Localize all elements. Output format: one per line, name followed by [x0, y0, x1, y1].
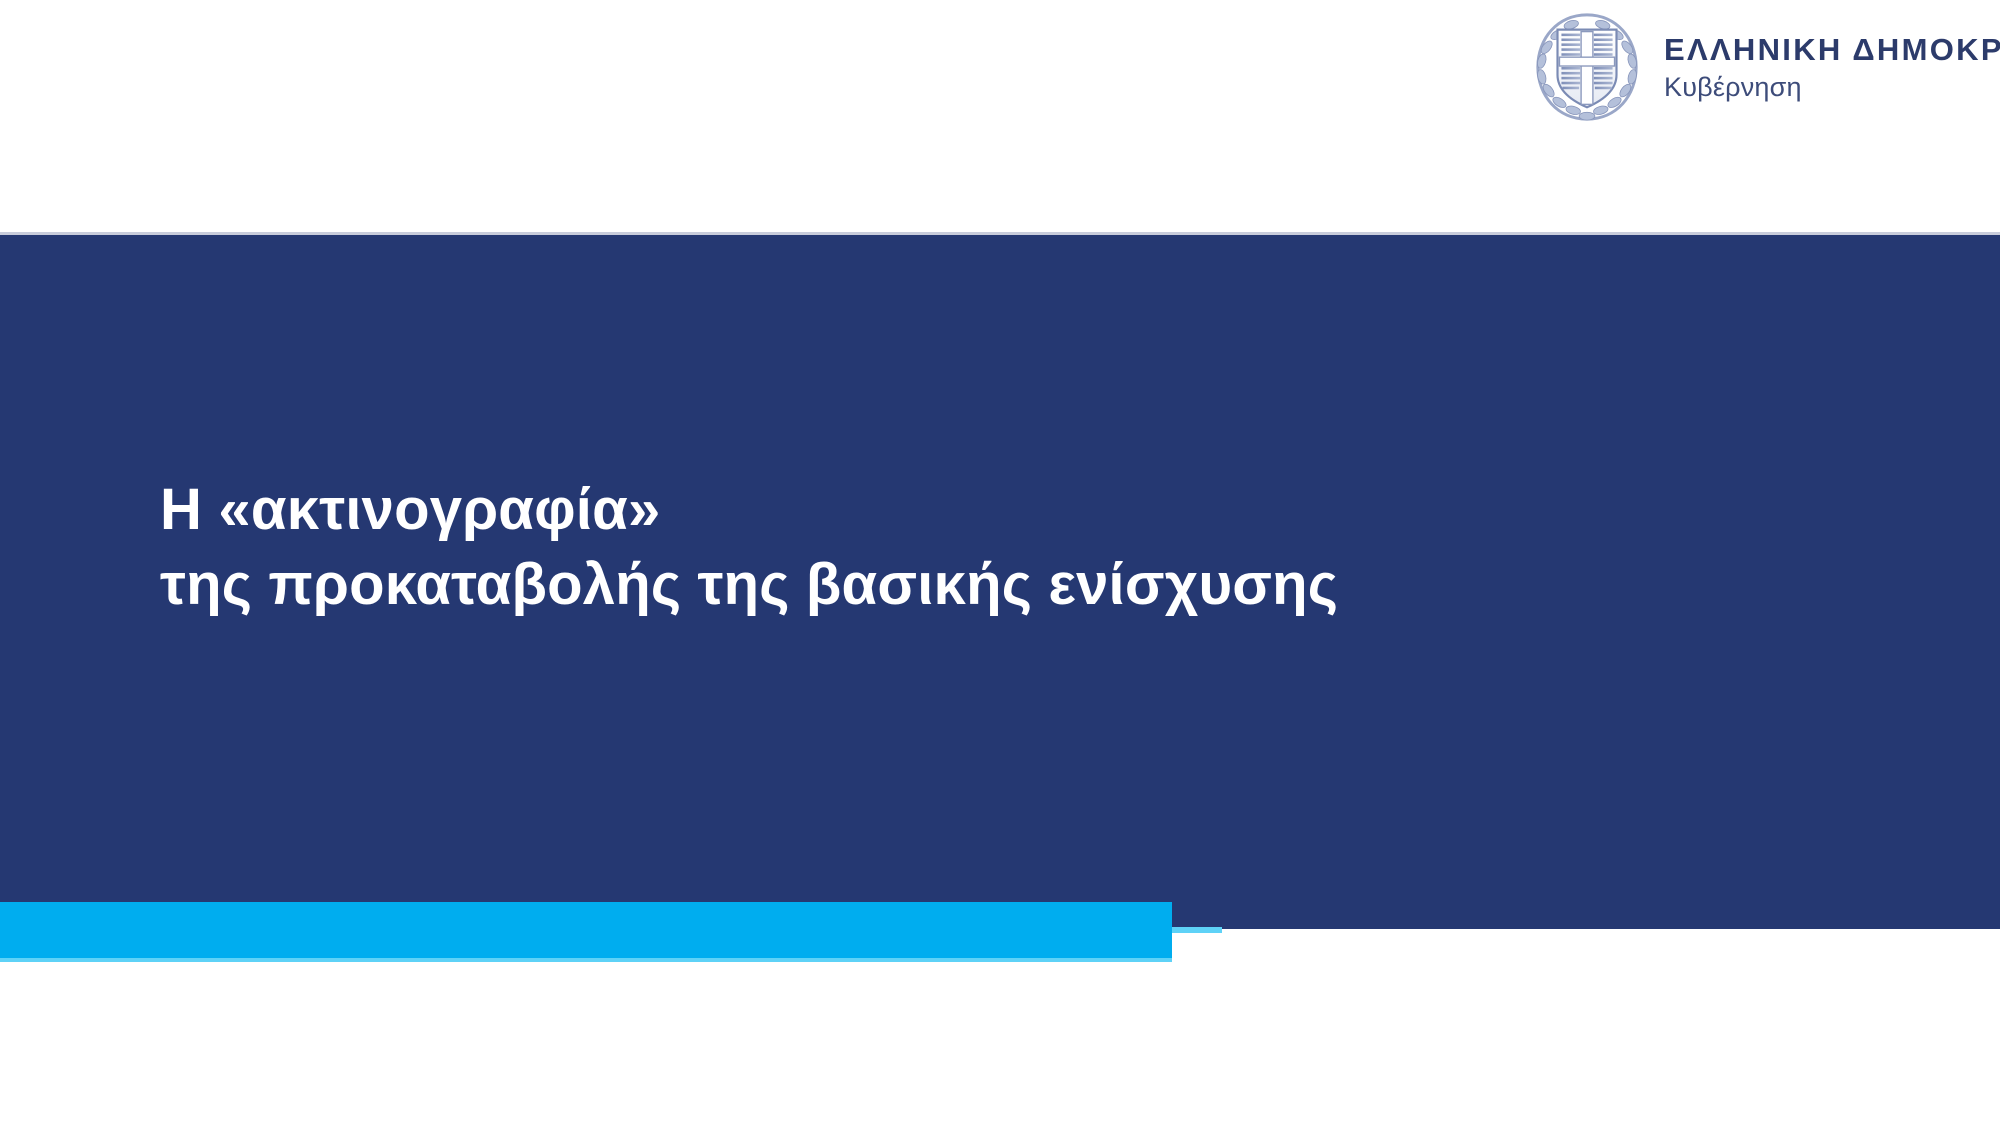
department-name: Κυβέρνηση — [1664, 71, 2000, 105]
slide-title-line-1: Η «ακτινογραφία» — [160, 472, 1760, 547]
organization-name: ΕΛΛΗΝΙΚΗ ΔΗΜΟΚΡΑΤΙΑ — [1664, 33, 2000, 68]
cyan-accent-bar-edge — [0, 958, 1172, 962]
cyan-accent-rule — [1172, 927, 1222, 933]
hellenic-republic-logo-lockup: ΕΛΛΗΝΙΚΗ ΔΗΜΟΚΡΑΤΙΑ Κυβέρνηση — [1528, 8, 2000, 126]
presentation-slide: ΕΛΛΗΝΙΚΗ ΔΗΜΟΚΡΑΤΙΑ Κυβέρνηση Η «ακτινογ… — [0, 0, 2000, 1125]
hellenic-republic-coat-of-arms-icon — [1528, 8, 1646, 126]
slide-title-line-2: της προκαταβολής της βασικής ενίσχυσης — [160, 547, 1760, 622]
cyan-accent-bar — [0, 902, 1172, 962]
slide-title: Η «ακτινογραφία» της προκαταβολής της βα… — [160, 472, 1760, 623]
logo-text-block: ΕΛΛΗΝΙΚΗ ΔΗΜΟΚΡΑΤΙΑ Κυβέρνηση — [1664, 29, 2000, 105]
